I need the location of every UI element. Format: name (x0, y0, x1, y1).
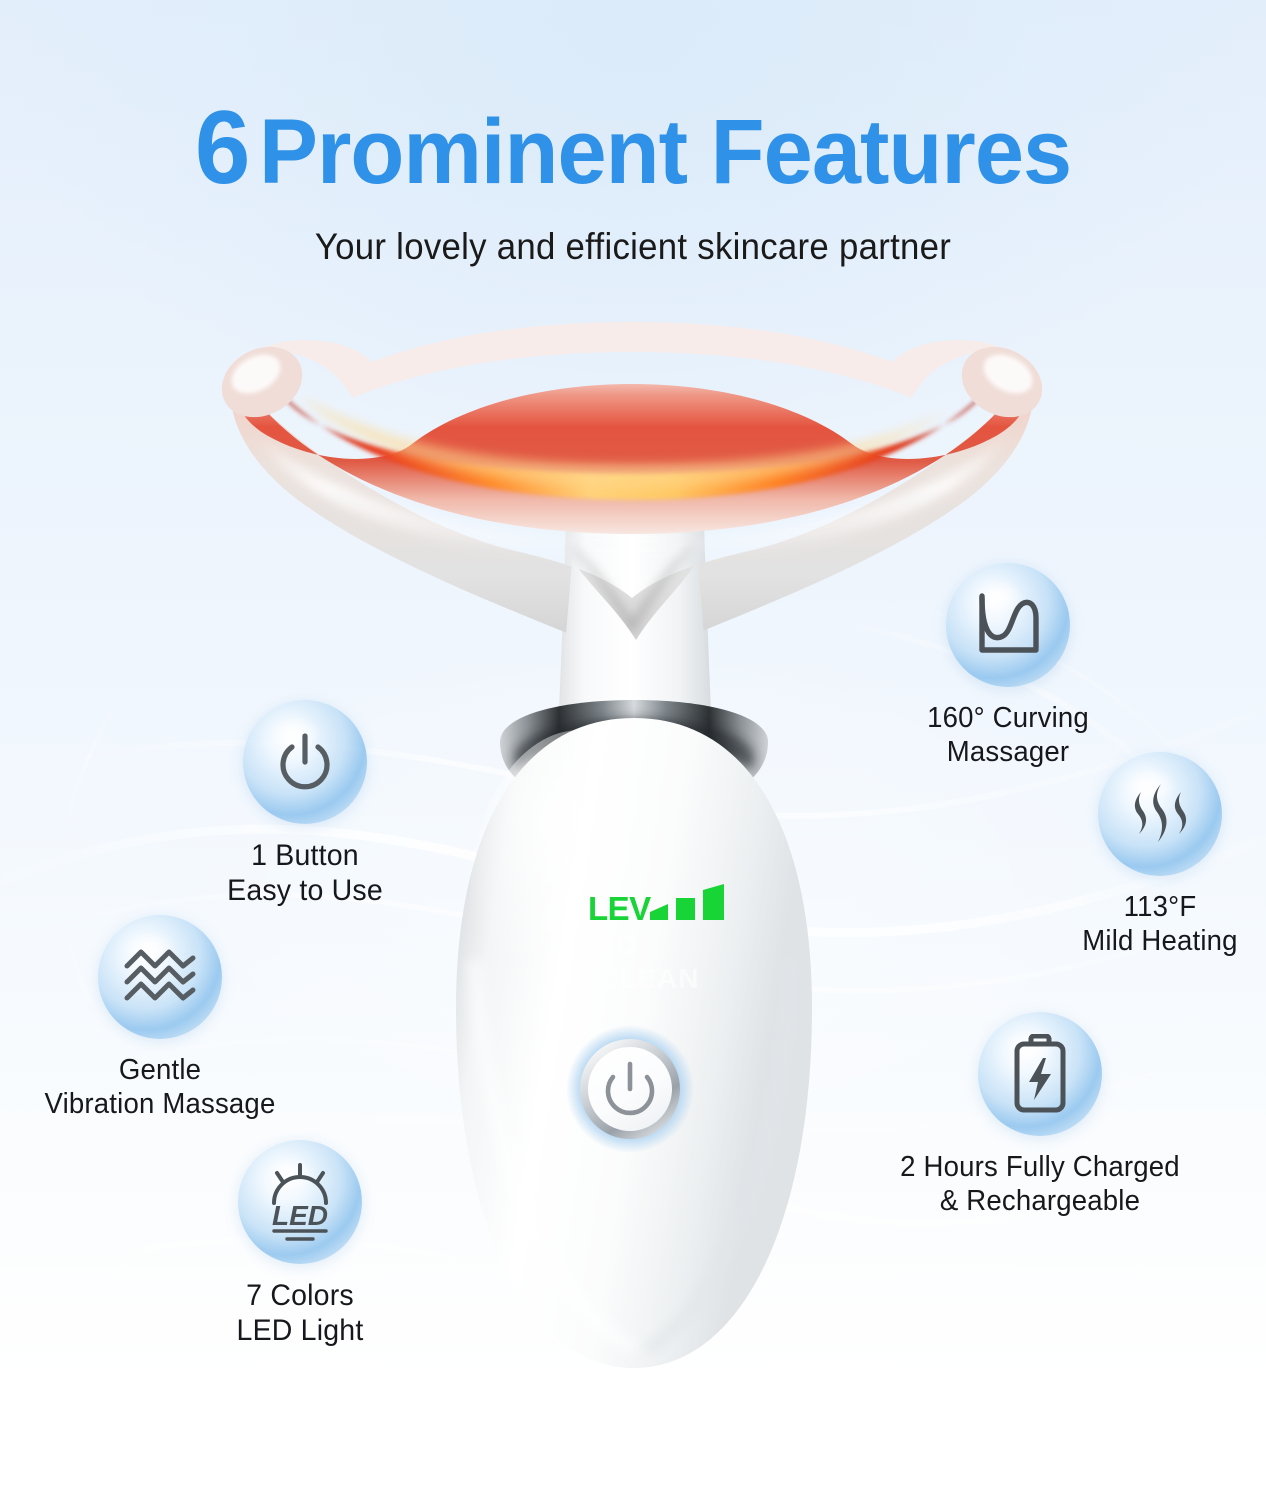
vibration-waves-icon (121, 944, 199, 1010)
battery-charging-icon (1009, 1034, 1071, 1114)
feature-bubble (978, 1012, 1102, 1136)
display-mode-led: LED (579, 929, 638, 960)
curve-graph-icon (970, 590, 1046, 660)
device-neck (558, 520, 712, 742)
feature-battery-rechargeable: 2 Hours Fully Charged & Rechargeable (840, 1012, 1240, 1218)
title-text: Prominent Features (259, 101, 1071, 203)
device-handle-neck (556, 560, 714, 748)
feature-one-button: 1 Button Easy to Use (140, 700, 470, 909)
led-light-icon: LED (258, 1163, 342, 1241)
device-body (456, 718, 812, 1368)
display-level-bar-1 (650, 904, 668, 920)
display-level-label: LEV (588, 890, 651, 927)
power-icon (268, 725, 342, 799)
feature-bubble (1098, 752, 1222, 876)
feature-led-light: LED 7 Colors LED Light (135, 1140, 465, 1349)
product-feature-infographic: 6Prominent Features Your lovely and effi… (0, 0, 1266, 1500)
feature-bubble (98, 915, 222, 1039)
display-mode-clean: CLEAN (598, 963, 699, 994)
feature-label: 7 Colors LED Light (143, 1278, 457, 1349)
device-display: LEV LED CLEAN (579, 884, 724, 994)
feature-label: 113°F Mild Heating (1003, 890, 1266, 958)
device-metal-collar (500, 700, 768, 812)
power-icon (608, 1064, 652, 1113)
title-number: 6 (195, 90, 250, 206)
page-title: 6Prominent Features (25, 96, 1240, 200)
feature-bubble (243, 700, 367, 824)
feature-label: 2 Hours Fully Charged & Rechargeable (850, 1150, 1230, 1218)
feature-label: Gentle Vibration Massage (3, 1053, 317, 1121)
device-power-button (566, 1025, 694, 1153)
device-led-strip (278, 390, 986, 500)
svg-text:LED: LED (272, 1200, 328, 1231)
feature-vibration-massage: Gentle Vibration Massage (0, 915, 325, 1121)
feature-label: 1 Button Easy to Use (148, 838, 462, 909)
feature-curving-massager: 160° Curving Massager (843, 563, 1173, 769)
feature-bubble (946, 563, 1070, 687)
feature-bubble: LED (238, 1140, 362, 1264)
header: 6Prominent Features Your lovely and effi… (0, 0, 1266, 268)
display-level-bar-2 (676, 898, 695, 920)
feature-mild-heating: 113°F Mild Heating (995, 752, 1266, 958)
heat-waves-icon (1124, 778, 1196, 850)
page-subtitle: Your lovely and efficient skincare partn… (38, 226, 1228, 268)
display-level-bar-3 (703, 884, 724, 920)
